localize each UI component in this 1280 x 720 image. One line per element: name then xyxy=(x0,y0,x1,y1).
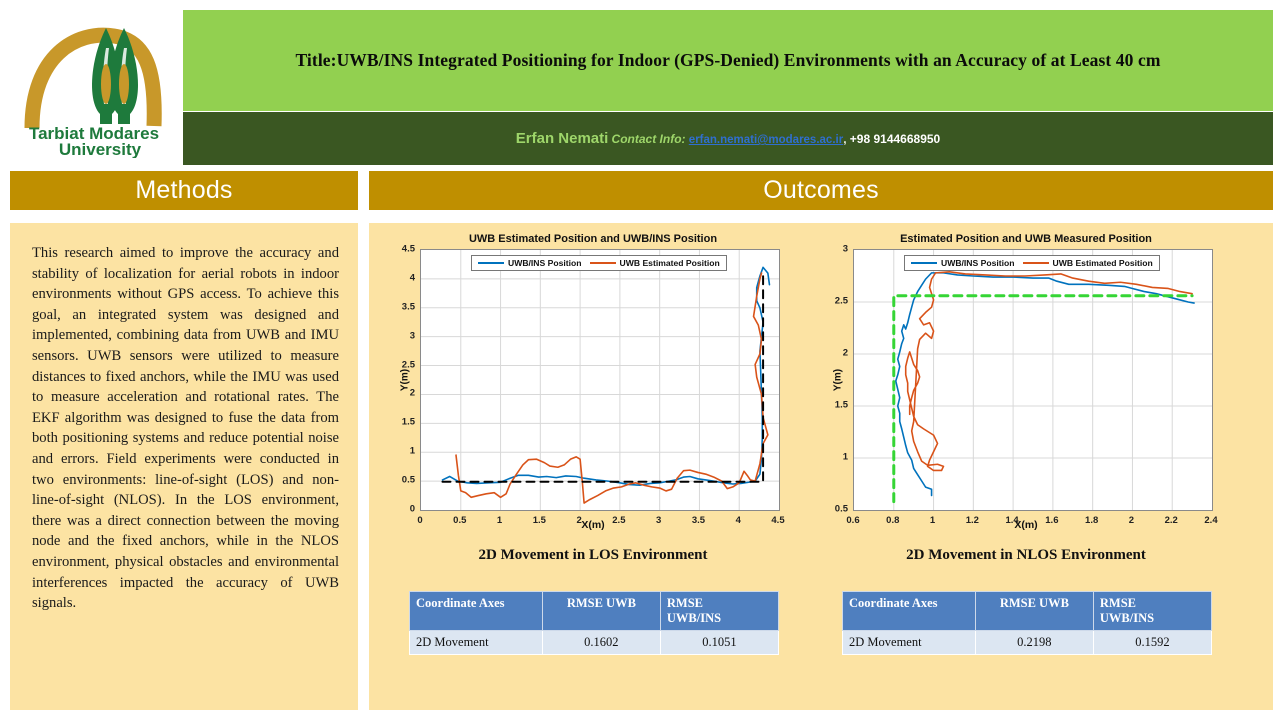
y-tick-label: 4.5 xyxy=(402,244,415,255)
y-tick-label: 1.5 xyxy=(402,417,415,428)
y-tick-label: 0.5 xyxy=(402,475,415,486)
y-tick-label: 2 xyxy=(843,348,848,359)
legend-label: UWB Estimated Position xyxy=(620,258,720,268)
col-rmse-uwb-ins: RMSE UWB/INS xyxy=(1093,592,1211,631)
cell-rmse-uwb-ins: 0.1051 xyxy=(660,631,778,655)
y-tick-label: 1 xyxy=(843,452,848,463)
legend-item: UWB Estimated Position xyxy=(590,258,720,268)
chart-los-title: UWB Estimated Position and UWB/INS Posit… xyxy=(384,233,802,245)
chart-legend: UWB/INS PositionUWB Estimated Position xyxy=(471,255,727,271)
y-tick-label: 2 xyxy=(410,388,415,399)
legend-swatch xyxy=(1023,262,1049,265)
section-header-outcomes: Outcomes xyxy=(369,171,1273,210)
poster-canvas: Tarbiat Modares University Title:UWB/INS… xyxy=(0,0,1280,720)
chart-los-plot-area: Y(m) 00.511.522.533.544.500.511.522.533.… xyxy=(420,249,780,511)
chart-nlos-title: Estimated Position and UWB Measured Posi… xyxy=(817,233,1235,245)
legend-item: UWB/INS Position xyxy=(478,258,582,268)
y-tick-label: 0.5 xyxy=(835,504,848,515)
methods-panel: This research aimed to improve the accur… xyxy=(10,223,358,710)
chart-los-xlabel: X(m) xyxy=(384,519,802,531)
col-rmse-uwb: RMSE UWB xyxy=(975,592,1093,631)
table-header-row: Coordinate Axes RMSE UWB RMSE UWB/INS xyxy=(843,592,1212,631)
legend-swatch xyxy=(911,262,937,265)
poster-title-bar: Title:UWB/INS Integrated Positioning for… xyxy=(183,10,1273,111)
legend-label: UWB/INS Position xyxy=(941,258,1015,268)
table-row: 2D Movement 0.2198 0.1592 xyxy=(843,631,1212,655)
cell-axis-label: 2D Movement xyxy=(410,631,543,655)
chart-los-canvas xyxy=(420,249,780,511)
tarbiat-modares-logo-icon: Tarbiat Modares University xyxy=(14,8,174,158)
y-tick-label: 3 xyxy=(410,330,415,341)
figure-nlos-caption: 2D Movement in NLOS Environment xyxy=(817,547,1235,564)
col-rmse-uwb-ins-line1: RMSE xyxy=(1100,596,1205,611)
figure-los-caption: 2D Movement in LOS Environment xyxy=(384,547,802,564)
cell-rmse-uwb: 0.2198 xyxy=(975,631,1093,655)
figure-nlos: Estimated Position and UWB Measured Posi… xyxy=(817,231,1235,541)
chart-nlos-plot-area: Y(m) 0.511.522.530.60.811.21.41.61.822.2… xyxy=(853,249,1213,511)
y-tick-label: 2.5 xyxy=(402,359,415,370)
university-logo: Tarbiat Modares University xyxy=(0,0,182,166)
y-tick-label: 1 xyxy=(410,446,415,457)
outcomes-panel: UWB Estimated Position and UWB/INS Posit… xyxy=(369,223,1273,710)
outcomes-header-label: Outcomes xyxy=(763,176,879,205)
col-rmse-uwb-ins: RMSE UWB/INS xyxy=(660,592,778,631)
cell-axis-label: 2D Movement xyxy=(843,631,976,655)
reference-path xyxy=(442,272,763,482)
cell-rmse-uwb: 0.1602 xyxy=(542,631,660,655)
legend-label: UWB/INS Position xyxy=(508,258,582,268)
table-row: 2D Movement 0.1602 0.1051 xyxy=(410,631,779,655)
contact-info-label: Contact Info: xyxy=(612,132,686,146)
col-rmse-uwb: RMSE UWB xyxy=(542,592,660,631)
rmse-table-los: Coordinate Axes RMSE UWB RMSE UWB/INS 2D… xyxy=(409,591,779,655)
chart-nlos-ylabel: Y(m) xyxy=(833,369,844,391)
y-tick-label: 2.5 xyxy=(835,296,848,307)
y-tick-label: 3 xyxy=(843,244,848,255)
author-name: Erfan Nemati xyxy=(516,130,609,147)
chart-nlos-xlabel: X(m) xyxy=(817,519,1235,531)
methods-body-text: This research aimed to improve the accur… xyxy=(32,243,339,614)
col-rmse-uwb-ins-line2: UWB/INS xyxy=(1100,611,1205,626)
plot1-svg xyxy=(854,250,1212,510)
chart-legend: UWB/INS PositionUWB Estimated Position xyxy=(904,255,1160,271)
author-contact-bar: Erfan Nemati Contact Info: erfan.nemati@… xyxy=(183,112,1273,165)
section-header-methods: Methods xyxy=(10,171,358,210)
legend-swatch xyxy=(478,262,504,265)
legend-label: UWB Estimated Position xyxy=(1053,258,1153,268)
author-phone: +98 9144668950 xyxy=(850,132,940,146)
plot0-svg xyxy=(421,250,779,510)
methods-header-label: Methods xyxy=(135,176,232,205)
table-header-row: Coordinate Axes RMSE UWB RMSE UWB/INS xyxy=(410,592,779,631)
rmse-table-nlos: Coordinate Axes RMSE UWB RMSE UWB/INS 2D… xyxy=(842,591,1212,655)
figure-los: UWB Estimated Position and UWB/INS Posit… xyxy=(384,231,802,541)
chart-nlos-canvas xyxy=(853,249,1213,511)
series-uwb-ins-position xyxy=(896,273,1194,496)
y-tick-label: 1.5 xyxy=(835,400,848,411)
chart-los: UWB Estimated Position and UWB/INS Posit… xyxy=(384,231,802,541)
author-email-link[interactable]: erfan.nemati@modares.ac.ir xyxy=(689,134,843,146)
cell-rmse-uwb-ins: 0.1592 xyxy=(1093,631,1211,655)
contact-separator: , xyxy=(843,132,846,146)
page-title: Title:UWB/INS Integrated Positioning for… xyxy=(287,50,1168,71)
legend-item: UWB/INS Position xyxy=(911,258,1015,268)
col-coordinate-axes: Coordinate Axes xyxy=(410,592,543,631)
y-tick-label: 0 xyxy=(410,504,415,515)
chart-nlos: Estimated Position and UWB Measured Posi… xyxy=(817,231,1235,541)
y-tick-label: 3.5 xyxy=(402,301,415,312)
legend-item: UWB Estimated Position xyxy=(1023,258,1153,268)
col-rmse-uwb-ins-line2: UWB/INS xyxy=(667,611,772,626)
legend-swatch xyxy=(590,262,616,265)
logo-line2: University xyxy=(59,140,142,158)
col-coordinate-axes: Coordinate Axes xyxy=(843,592,976,631)
y-tick-label: 4 xyxy=(410,272,415,283)
col-rmse-uwb-ins-line1: RMSE xyxy=(667,596,772,611)
